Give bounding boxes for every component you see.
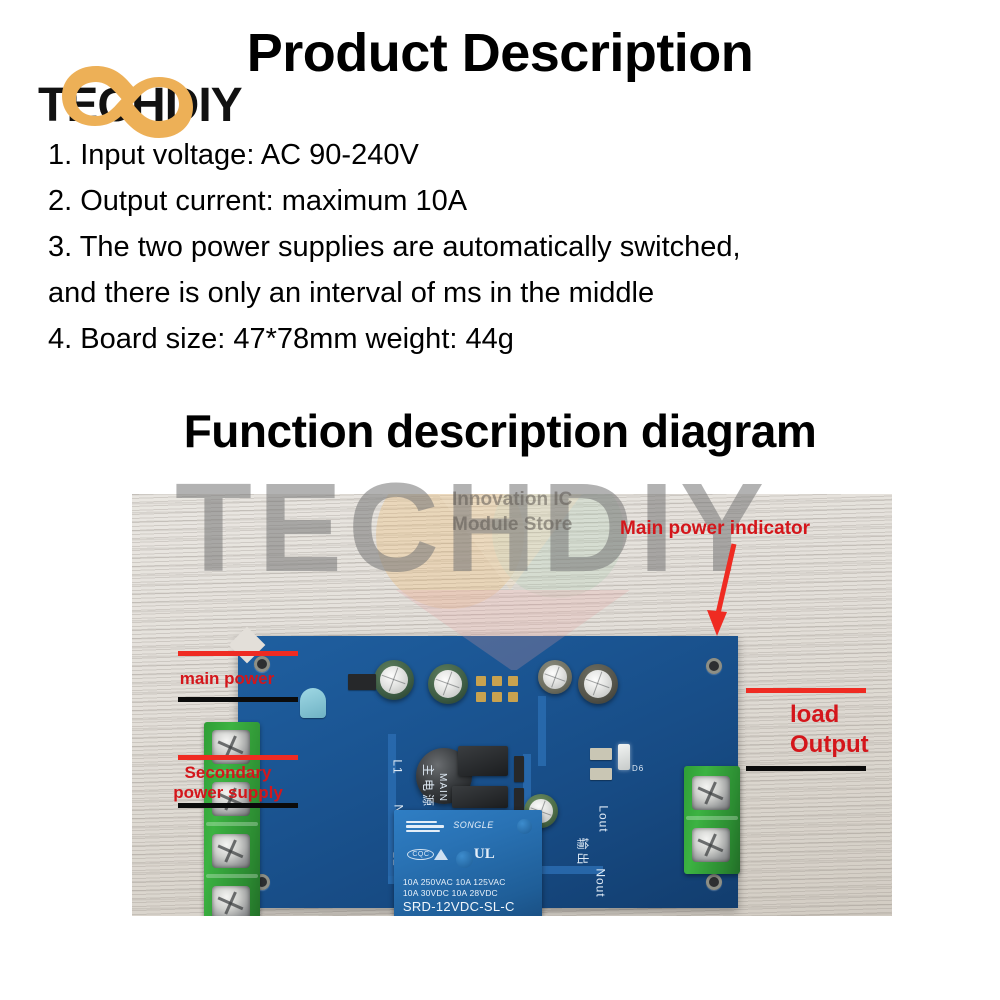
wire-red-load-lout [746,688,866,693]
arrow-down-icon [694,542,754,642]
product-photo: D6 L1 N1 L2 N2 主电源 MAIN 副电源 BACKUP Lout … [132,494,892,916]
terminal-screw-l2 [212,834,250,868]
mounting-hole [706,874,722,890]
section-title: Function description diagram [0,404,1000,458]
film-capacitor [300,688,326,718]
callout-secondary-power: Secondary power supply [148,763,308,803]
callout-main-power: main power [152,669,302,689]
brand-loop-icon [38,52,278,152]
input-terminal-block [204,722,260,916]
callout-secondary-line1: Secondary [148,763,308,783]
wire-black-secondary-n2 [178,803,298,808]
silkscreen-main-en: MAIN [437,773,448,802]
optocoupler-ic [458,746,508,776]
songle-logo-icon [406,821,444,838]
silkscreen-led-ref: D6 [632,764,644,773]
spec-line: 3. The two power supplies are automatica… [48,224,958,270]
wire-black-main-n1 [178,697,298,702]
spec-line: and there is only an interval of ms in t… [48,270,958,316]
ic-chip [452,786,508,808]
relay-dimple [517,819,532,834]
relay-module: SONGLE CQC UL 10A 250VAC 10A 125VAC 10A … [394,810,542,916]
wire-red-secondary-l2 [178,755,298,760]
callout-main-power-indicator: Main power indicator [620,519,850,539]
resistor [590,768,612,780]
relay-rating-2: 10A 30VDC 10A 28VDC [403,888,533,898]
electrolytic-capacitor [428,664,468,704]
silkscreen-output-cn: 输出 [575,837,592,867]
silkscreen-l1: L1 [391,759,405,774]
cqc-mark-icon: CQC [407,849,434,860]
spec-line: 2. Output current: maximum 10A [48,178,958,224]
resistor [514,756,524,782]
relay-part-number: SRD-12VDC-SL-C [403,899,536,914]
resistor [590,748,612,760]
spec-line: 4. Board size: 47*78mm weight: 44g [48,316,958,362]
wire-red-main-l1 [178,651,298,656]
callout-secondary-line2: power supply [148,783,308,803]
callout-load-line1: load [790,700,920,730]
silkscreen-lout: Lout [597,805,611,832]
warning-triangle-icon [434,849,448,860]
ul-mark-icon: UL [474,846,495,863]
output-terminal-block [684,766,740,874]
relay-brand: SONGLE [453,820,494,830]
diode-bridge [348,674,376,690]
electrolytic-capacitor [578,664,618,704]
wire-black-load-nout [746,766,866,771]
specification-list: 1. Input voltage: AC 90-240V 2. Output c… [48,132,958,362]
pcb-board: D6 L1 N1 L2 N2 主电源 MAIN 副电源 BACKUP Lout … [238,636,738,908]
terminal-screw-n2 [212,886,250,916]
silkscreen-main-cn: 主电源 [420,764,437,809]
callout-load-output: load Output [790,700,920,760]
relay-rating-1: 10A 250VAC 10A 125VAC [403,877,533,887]
power-indicator-led [618,744,630,770]
terminal-screw-nout [692,828,730,862]
relay-dimple [456,851,473,868]
silkscreen-nout: Nout [594,868,608,897]
callout-load-line2: Output [790,730,920,760]
terminal-screw-lout [692,776,730,810]
